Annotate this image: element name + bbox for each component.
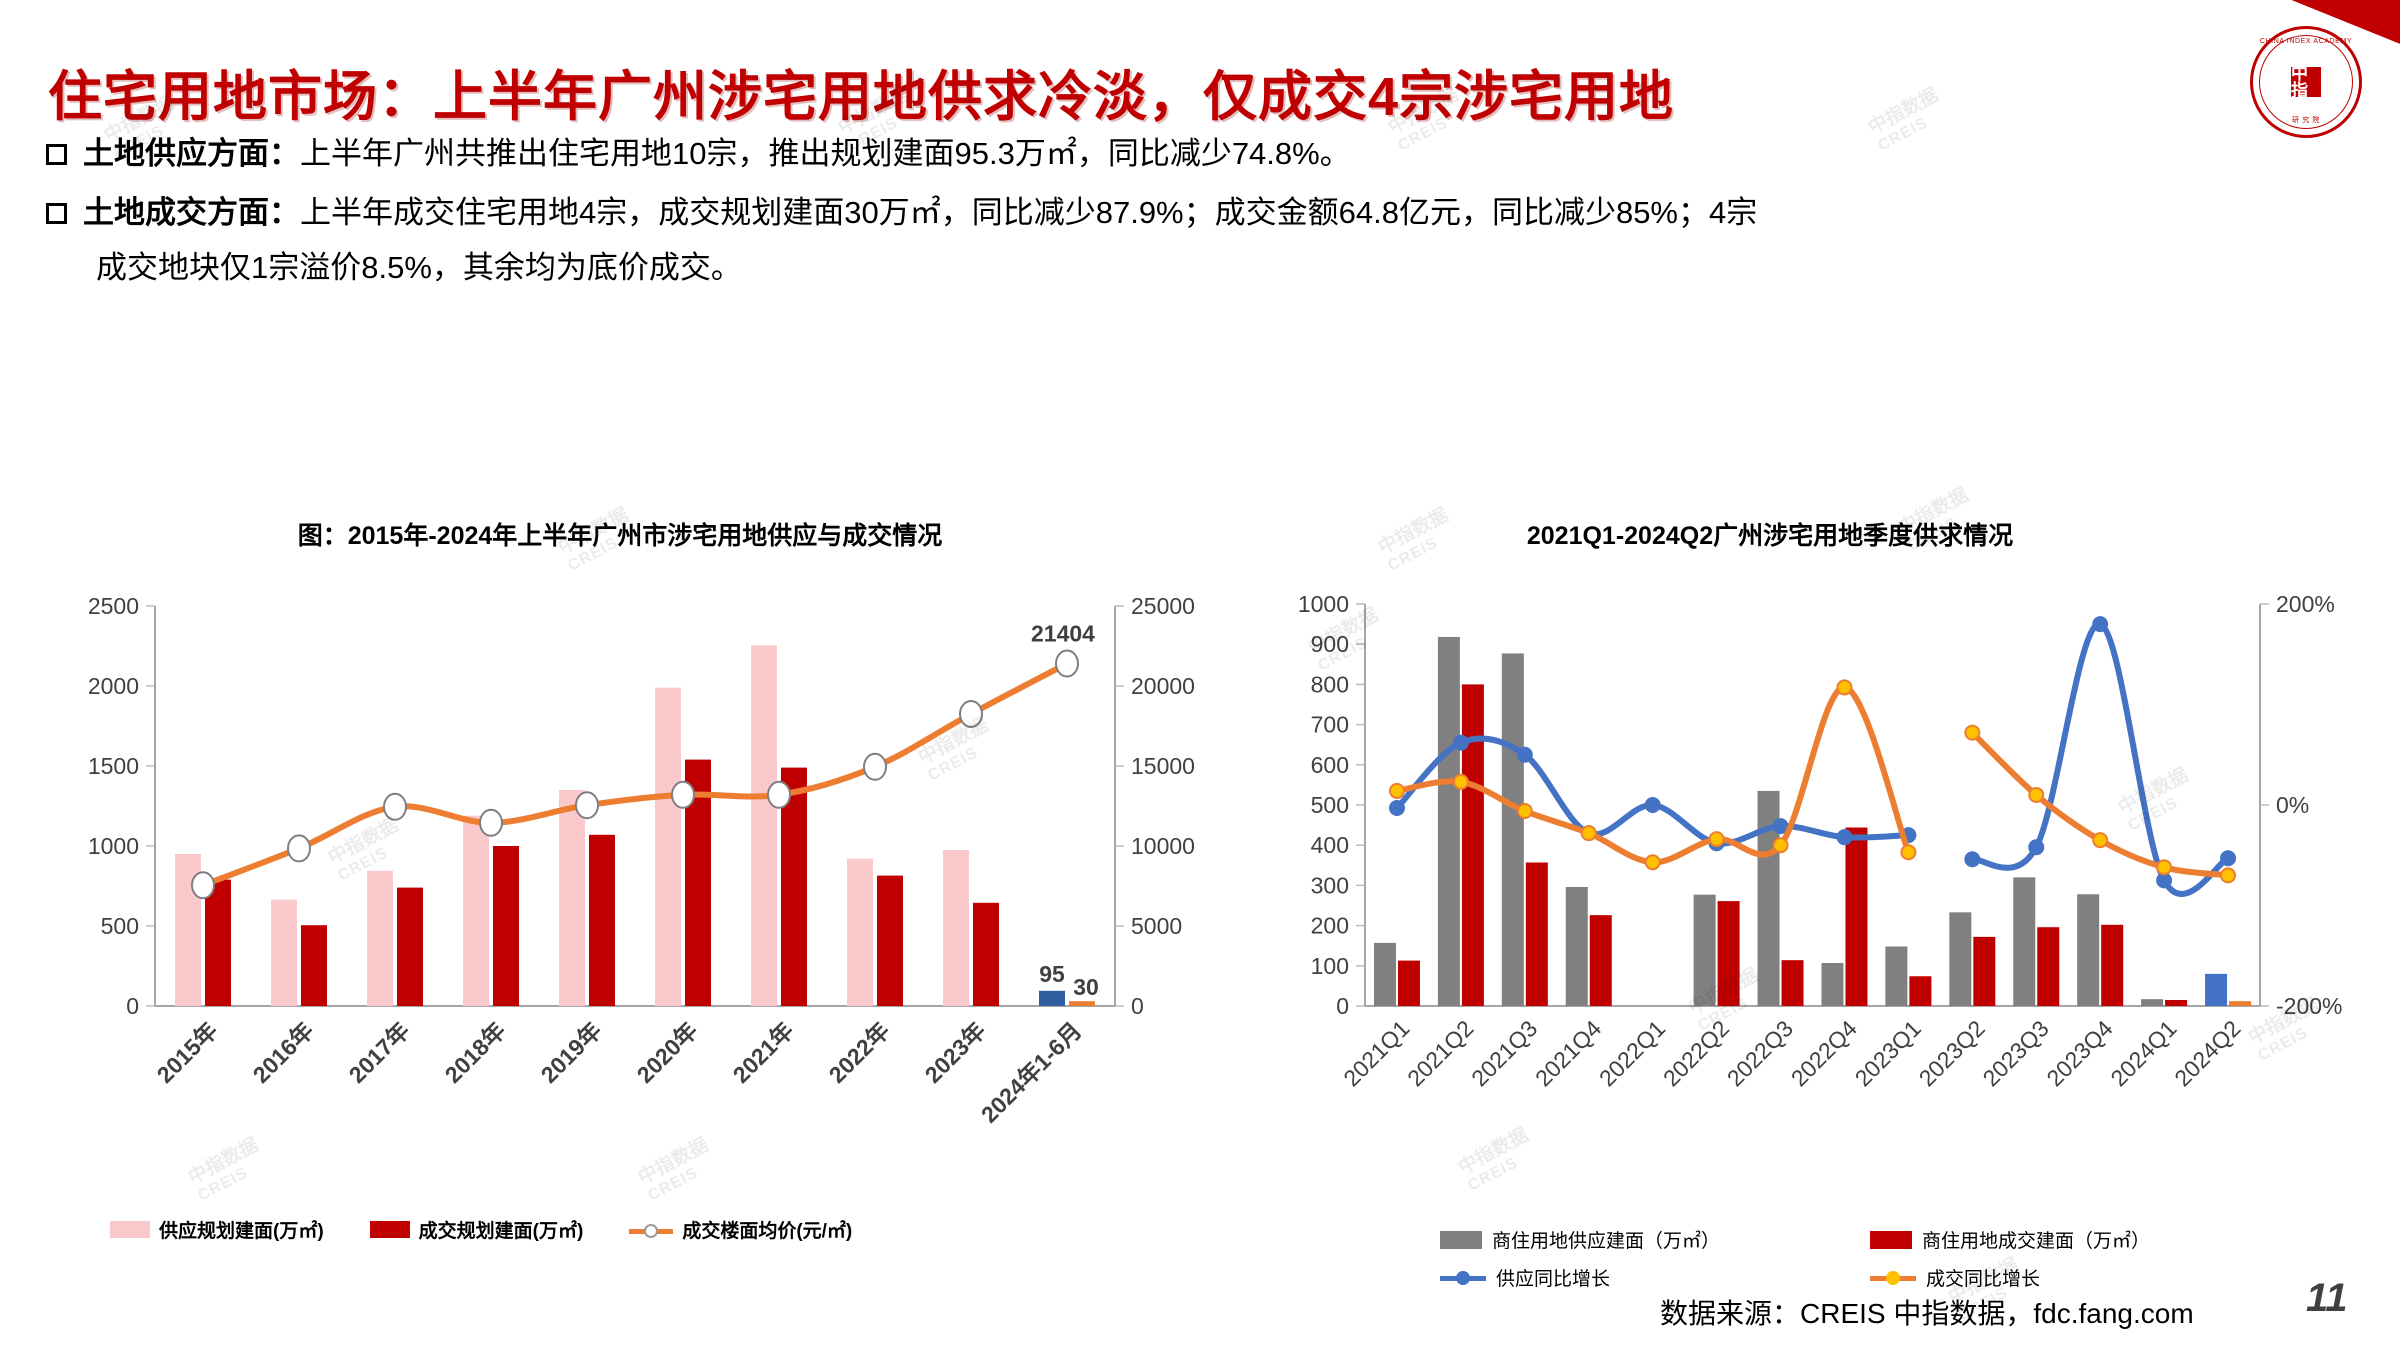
svg-text:0: 0 [1336,993,1349,1019]
bullet-content-supply: 上半年广州共推出住宅用地10宗，推出规划建面95.3万㎡，同比减少74.8%。 [300,136,1351,171]
svg-text:2024年1-6月: 2024年1-6月 [976,1017,1087,1128]
svg-text:2022Q2: 2022Q2 [1658,1015,1734,1091]
svg-text:900: 900 [1311,631,1349,657]
bullet-continuation-deal: 成交地块仅1宗溢价8.5%，其余均为底价成交。 [46,246,2366,291]
svg-text:2022Q1: 2022Q1 [1594,1015,1670,1091]
bullet-square-icon [46,203,67,224]
svg-text:2023Q3: 2023Q3 [1978,1015,2054,1091]
right-chart-legend: 商住用地供应建面（万㎡） 商住用地成交建面（万㎡） 供应同比增长 成交同比增长 [1440,1226,2300,1302]
legend-swatch-supply-area [110,1221,150,1238]
svg-text:1000: 1000 [1298,591,1349,617]
svg-text:0: 0 [126,993,139,1019]
bullet-text-supply: 土地供应方面：上半年广州共推出住宅用地10宗，推出规划建面95.3万㎡，同比减少… [83,132,1351,177]
legend-label-deal-yoy: 成交同比增长 [1926,1264,2040,1291]
svg-text:200: 200 [1311,913,1349,939]
svg-text:1500: 1500 [88,753,139,779]
legend-item-deal-gfa: 商住用地成交建面（万㎡） [1870,1226,2300,1253]
right-chart: 01002003004005006007008009001000-200%0%2… [1250,576,2400,1196]
svg-text:0: 0 [1131,993,1144,1019]
svg-text:2016年: 2016年 [248,1017,319,1088]
legend-label-supply-gfa: 商住用地供应建面（万㎡） [1492,1226,1720,1253]
svg-text:500: 500 [1311,792,1349,818]
legend-swatch-supply-gfa [1440,1231,1482,1249]
svg-text:400: 400 [1311,832,1349,858]
svg-text:2017年: 2017年 [344,1017,415,1088]
left-chart-title: 图：2015年-2024年上半年广州市涉宅用地供应与成交情况 [60,516,1180,552]
svg-text:2023Q4: 2023Q4 [2041,1015,2117,1091]
left-chart-legend: 供应规划建面(万㎡) 成交规划建面(万㎡) 成交楼面均价(元/㎡) [110,1216,898,1243]
logo-arc-top-text: CHINA INDEX ACADEMY [2253,38,2359,45]
right-chart-title: 2021Q1-2024Q2广州涉宅用地季度供求情况 [1240,516,2300,552]
svg-text:800: 800 [1311,671,1349,697]
legend-item-deal-yoy: 成交同比增长 [1870,1264,2300,1291]
legend-label-supply-area: 供应规划建面(万㎡) [159,1216,324,1243]
svg-text:2023年: 2023年 [920,1017,991,1088]
bullet-item-deal: 土地成交方面：上半年成交住宅用地4宗，成交规划建面30万㎡，同比减少87.9%；… [46,191,2366,236]
svg-text:15000: 15000 [1131,753,1195,779]
legend-item-supply-yoy: 供应同比增长 [1440,1264,1870,1291]
bullet-label-supply: 土地供应方面： [83,136,300,171]
legend-item-supply-gfa: 商住用地供应建面（万㎡） [1440,1226,1870,1253]
bullet-text-deal: 土地成交方面：上半年成交住宅用地4宗，成交规划建面30万㎡，同比减少87.9%；… [83,191,1757,236]
svg-text:100: 100 [1311,953,1349,979]
svg-text:1000: 1000 [88,833,139,859]
svg-text:2020年: 2020年 [632,1017,703,1088]
legend-item-supply-area: 供应规划建面(万㎡) [110,1216,324,1243]
svg-text:21404: 21404 [1031,621,1095,647]
svg-text:2000: 2000 [88,673,139,699]
svg-text:2021Q4: 2021Q4 [1530,1015,1606,1091]
svg-text:2018年: 2018年 [440,1017,511,1088]
bullet-square-icon [46,144,67,165]
svg-text:2024Q2: 2024Q2 [2169,1015,2245,1091]
svg-text:10000: 10000 [1131,833,1195,859]
svg-text:2021Q3: 2021Q3 [1466,1015,1542,1091]
legend-swatch-avg-price [629,1222,673,1238]
svg-text:2023Q2: 2023Q2 [1914,1015,1990,1091]
svg-text:0%: 0% [2276,792,2309,818]
legend-row-2: 供应同比增长 成交同比增长 [1440,1264,2300,1291]
legend-swatch-deal-area [370,1221,410,1238]
svg-text:-200%: -200% [2276,993,2342,1019]
svg-text:2021Q2: 2021Q2 [1402,1015,1478,1091]
svg-text:600: 600 [1311,752,1349,778]
bullet-item-supply: 土地供应方面：上半年广州共推出住宅用地10宗，推出规划建面95.3万㎡，同比减少… [46,132,2366,177]
svg-text:2021Q1: 2021Q1 [1338,1015,1414,1091]
bullet-list: 土地供应方面：上半年广州共推出住宅用地10宗，推出规划建面95.3万㎡，同比减少… [46,132,2366,291]
logo-arc-bottom-text: 研 究 院 [2253,115,2359,125]
company-logo: CHINA INDEX ACADEMY 中指 研 究 院 [2250,26,2362,138]
legend-row-1: 商住用地供应建面（万㎡） 商住用地成交建面（万㎡） [1440,1226,2300,1253]
svg-text:2022Q4: 2022Q4 [1786,1015,1862,1091]
legend-item-avg-price: 成交楼面均价(元/㎡) [629,1216,852,1243]
bullet-content-deal: 上半年成交住宅用地4宗，成交规划建面30万㎡，同比减少87.9%；成交金额64.… [300,195,1757,230]
svg-text:2023Q1: 2023Q1 [1850,1015,1926,1091]
svg-text:20000: 20000 [1131,673,1195,699]
legend-label-avg-price: 成交楼面均价(元/㎡) [682,1216,852,1243]
svg-text:500: 500 [101,913,139,939]
legend-swatch-deal-gfa [1870,1231,1912,1249]
legend-label-supply-yoy: 供应同比增长 [1496,1264,1610,1291]
legend-item-deal-area: 成交规划建面(万㎡) [370,1216,584,1243]
svg-text:25000: 25000 [1131,593,1195,619]
left-chart: 0500100015002000250005000100001500020000… [40,576,1220,1196]
svg-text:700: 700 [1311,712,1349,738]
svg-text:2015年: 2015年 [152,1017,223,1088]
legend-label-deal-area: 成交规划建面(万㎡) [419,1216,584,1243]
svg-text:2024Q1: 2024Q1 [2105,1015,2181,1091]
legend-label-deal-gfa: 商住用地成交建面（万㎡） [1922,1226,2150,1253]
svg-text:5000: 5000 [1131,913,1182,939]
page-number: 11 [2306,1276,2348,1321]
page-title: 住宅用地市场：上半年广州涉宅用地供求冷淡，仅成交4宗涉宅用地 [48,52,2048,131]
legend-swatch-deal-yoy [1870,1270,1916,1286]
svg-text:300: 300 [1311,872,1349,898]
svg-text:2022Q3: 2022Q3 [1722,1015,1798,1091]
svg-text:95: 95 [1039,961,1065,987]
svg-text:2022年: 2022年 [824,1017,895,1088]
bullet-label-deal: 土地成交方面： [83,195,300,230]
svg-text:30: 30 [1073,974,1099,1000]
data-source-note: 数据来源：CREIS 中指数据，fdc.fang.com [1660,1292,2194,1332]
legend-swatch-supply-yoy [1440,1270,1486,1286]
svg-text:2500: 2500 [88,593,139,619]
svg-text:2021年: 2021年 [728,1017,799,1088]
svg-text:2019年: 2019年 [536,1017,607,1088]
svg-text:200%: 200% [2276,591,2335,617]
